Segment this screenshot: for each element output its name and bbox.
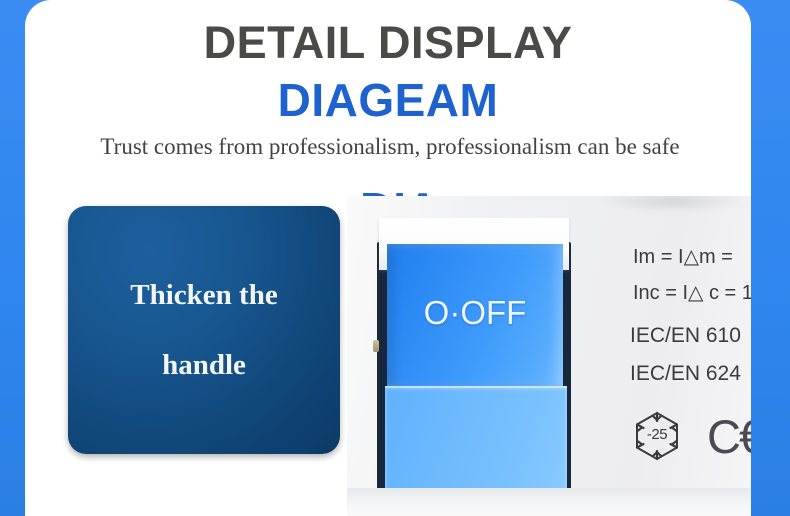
poster-frame: DETAIL DISPLAY DIAGEAM Trust comes from … (0, 0, 790, 516)
screw-icon (373, 340, 379, 352)
snowflake-icon: -25 (629, 408, 685, 464)
ce-mark-icon: C€ (707, 413, 751, 460)
housing-highlight (597, 196, 747, 212)
spec-line-inc: Inc = I△ c = 1 (633, 280, 751, 305)
callout-line-1: Thicken the (90, 260, 318, 330)
header-block: DETAIL DISPLAY DIAGEAM Trust comes from … (25, 0, 751, 162)
breaker-base-rail (347, 488, 751, 516)
brand-title: DIAGEAM (25, 69, 751, 126)
spec-line-im: Im = I△m = (633, 244, 733, 269)
callout-badge: Thicken the handle (68, 206, 340, 454)
breaker-handle-upper[interactable]: O·OFF (387, 244, 563, 389)
callout-text: Thicken the handle (90, 260, 318, 400)
tagline-text: Trust comes from professionalism, profes… (27, 126, 751, 162)
spec-line-iec-62423: IEC/EN 624 (630, 362, 741, 386)
handle-seam-line (385, 386, 567, 388)
product-photo: O·OFF Im = I△m = Inc = I△ c = 1 IEC/EN 6… (347, 196, 751, 516)
page-title: DETAIL DISPLAY (25, 0, 751, 69)
callout-line-2: handle (90, 330, 318, 400)
certification-marks: -25 C€ (629, 408, 751, 464)
white-content-card: DETAIL DISPLAY DIAGEAM Trust comes from … (25, 0, 751, 516)
handle-off-label: O·OFF (387, 296, 563, 329)
spec-line-iec-61008: IEC/EN 610 (630, 324, 741, 348)
snowflake-temperature-value: -25 (629, 426, 685, 443)
